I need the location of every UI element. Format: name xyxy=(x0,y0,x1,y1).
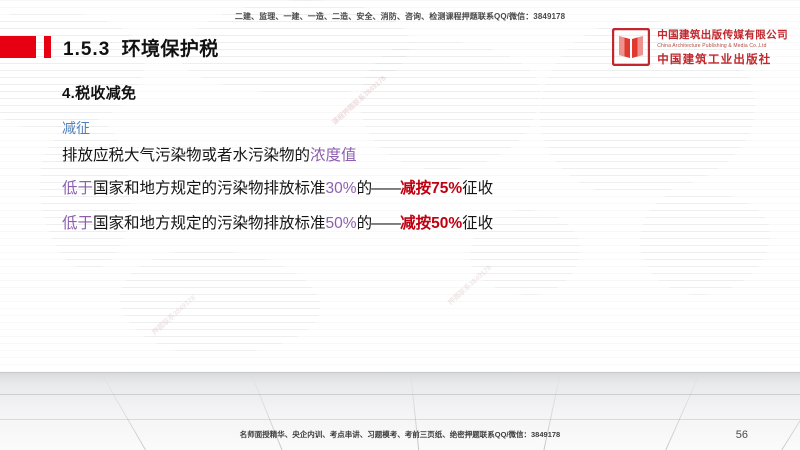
title-accent-block xyxy=(0,36,36,58)
rule-result: 减按75% xyxy=(400,180,462,197)
open-book-logo-icon xyxy=(612,28,650,66)
page-number: 56 xyxy=(736,429,748,441)
intro-line: 排放应税大气污染物或者水污染物的浓度值 xyxy=(62,140,762,171)
title-accent-bar xyxy=(44,36,51,58)
map-shape xyxy=(0,10,145,130)
rule-connector: 的—— xyxy=(357,215,401,232)
content-subtitle: 4.税收减免 xyxy=(62,82,136,103)
floor-horizon-line xyxy=(0,372,800,374)
rule-row: 低于国家和地方规定的污染物排放标准30%的——减按75%征收 xyxy=(62,171,762,206)
intro-text: 排放应税大气污染物或者水污染物的 xyxy=(62,147,310,164)
watermark: 押题联系3849178 xyxy=(150,293,198,337)
footer-promo-text: 名师面授精华、央企内训、考点串讲、习题模考、考前三页纸、绝密押题联系QQ/微信：… xyxy=(0,429,800,440)
section-number: 1.5.3 xyxy=(63,39,110,60)
rule-connector: 的—— xyxy=(357,180,401,197)
presentation-slide: 二建、监理、一建、一造、二造、安全、消防、咨询、检测课程押题联系QQ/微信：38… xyxy=(0,0,800,450)
logo-company-en: China Architecture Publishing & Media Co… xyxy=(657,43,788,49)
content-body: 减征 排放应税大气污染物或者水污染物的浓度值 低于国家和地方规定的污染物排放标准… xyxy=(62,116,762,241)
logo-press-cn: 中国建筑工业出版社 xyxy=(657,51,788,67)
rule-prefix: 低于 xyxy=(62,215,93,232)
publisher-logo: 中国建筑出版传媒有限公司 China Architecture Publishi… xyxy=(612,27,788,67)
intro-highlight: 浓度值 xyxy=(310,147,357,164)
rule-result: 减按50% xyxy=(400,215,462,232)
rule-percent: 50% xyxy=(326,215,357,232)
publisher-logo-text: 中国建筑出版传媒有限公司 China Architecture Publishi… xyxy=(657,27,788,67)
rule-percent: 30% xyxy=(326,180,357,197)
lead-label: 减征 xyxy=(62,116,762,140)
slide-title-row: 1.5.3 环境保护税 xyxy=(0,30,219,64)
rule-middle: 国家和地方规定的污染物排放标准 xyxy=(93,180,326,197)
rule-suffix: 征收 xyxy=(462,215,493,232)
rule-prefix: 低于 xyxy=(62,180,93,197)
top-promo-banner: 二建、监理、一建、一造、二造、安全、消防、咨询、检测课程押题联系QQ/微信：38… xyxy=(0,11,800,22)
logo-company-cn: 中国建筑出版传媒有限公司 xyxy=(657,27,788,42)
section-title: 环境保护税 xyxy=(122,39,219,60)
watermark: 押题联系3849178 xyxy=(446,263,494,307)
floor-grid-line xyxy=(0,394,800,395)
map-shape xyxy=(120,250,320,355)
rule-suffix: 征收 xyxy=(462,180,493,197)
rule-middle: 国家和地方规定的污染物排放标准 xyxy=(93,215,326,232)
page-title: 1.5.3 环境保护税 xyxy=(63,34,219,61)
rule-row: 低于国家和地方规定的污染物排放标准50%的——减按50%征收 xyxy=(62,206,762,241)
